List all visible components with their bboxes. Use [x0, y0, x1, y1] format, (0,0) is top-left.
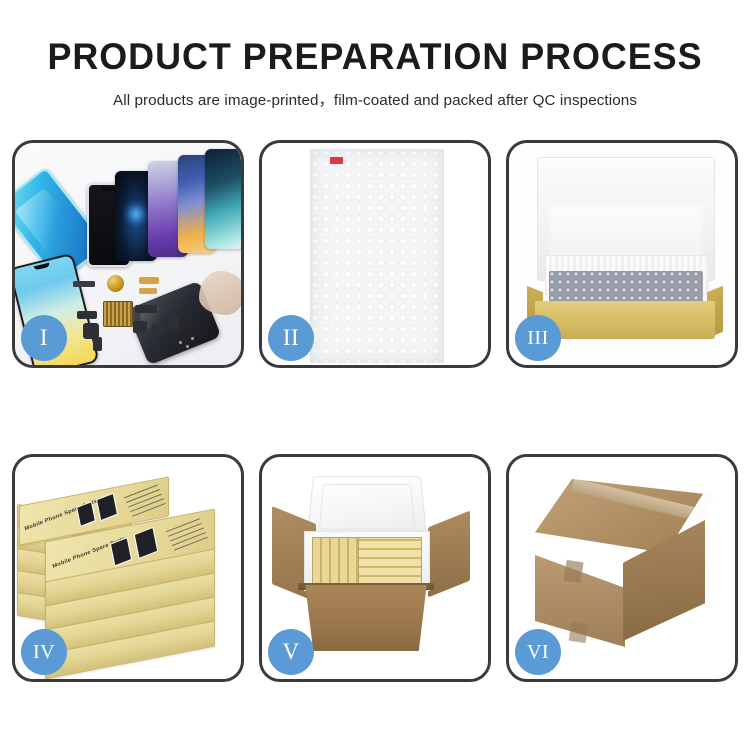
step-panel-5: V [259, 454, 491, 682]
phone-thumbnail-icon [134, 527, 159, 559]
part-camera-icon [133, 321, 147, 333]
phone-display-teal-icon [205, 149, 241, 249]
part-connector-icon [77, 311, 97, 319]
carton-front-icon [300, 585, 432, 651]
part-screw-icon [191, 337, 194, 340]
step-badge-2: II [268, 315, 314, 361]
bubble-wrapped-contents-icon [549, 271, 703, 305]
part-flex-cable-icon [139, 288, 157, 294]
part-ic-chip-icon [103, 301, 133, 327]
part-flex-cable-icon [139, 277, 159, 284]
part-screw-icon [186, 345, 189, 348]
step-panel-6: VI [506, 454, 738, 682]
part-battery-icon [169, 315, 179, 329]
step-badge-4: IV [21, 629, 67, 675]
carton-handle-cutout-icon [563, 560, 583, 583]
red-qc-label-icon [330, 157, 343, 164]
phone-thumbnail-icon [110, 537, 132, 567]
part-flex-icon [135, 305, 157, 313]
shipping-carton-icon [523, 479, 723, 659]
spare-parts-cluster [73, 275, 203, 361]
carton-handle-cutout-icon [569, 622, 589, 643]
part-screw-icon [179, 341, 182, 344]
kraft-box-front-icon [535, 301, 715, 339]
notch-icon [34, 263, 50, 271]
packing-tape-icon [571, 478, 698, 521]
part-taptic-icon [151, 323, 163, 334]
step-panel-4: Mobile Phone Spare Parts Mobile Phone Sp… [12, 454, 244, 682]
part-speaker-icon [73, 281, 95, 287]
hand-icon [199, 271, 241, 315]
header: PRODUCT PREPARATION PROCESS All products… [0, 0, 750, 110]
part-gold-coil-icon [107, 275, 124, 292]
phone-thumbnail-icon [96, 493, 118, 522]
process-steps-grid: I II [12, 140, 738, 682]
step-panel-1: I [12, 140, 244, 368]
step-badge-6: VI [515, 629, 561, 675]
page-subtitle: All products are image-printed，film-coat… [0, 77, 750, 110]
step-panel-3: III [506, 140, 738, 368]
product-preparation-infographic: PRODUCT PREPARATION PROCESS All products… [0, 0, 750, 750]
gold-boxes-row-icon [358, 537, 422, 585]
page-title: PRODUCT PREPARATION PROCESS [11, 0, 739, 77]
step-badge-5: V [268, 629, 314, 675]
foam-lid-icon [307, 476, 428, 539]
step-badge-3: III [515, 315, 561, 361]
step-badge-1: I [21, 315, 67, 361]
carton-flap-right-icon [428, 511, 470, 598]
step-panel-2: II [259, 140, 491, 368]
part-small-icon [93, 337, 102, 351]
bubble-wrap-bag-icon [310, 149, 444, 363]
